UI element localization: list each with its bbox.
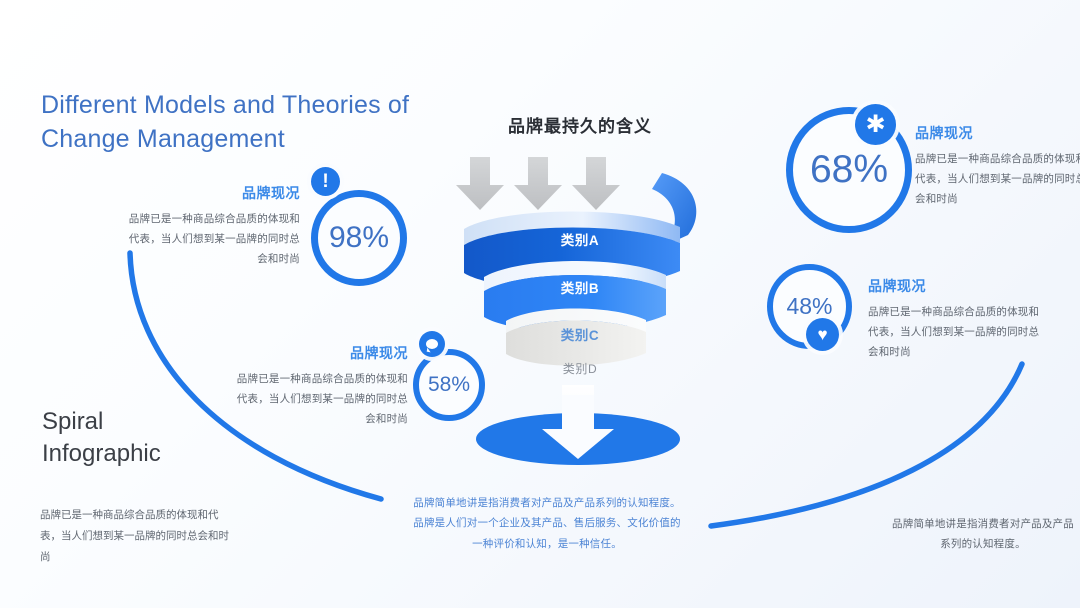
spiral-label-line2: Infographic — [42, 438, 282, 470]
callout-68-text: 品牌现况 品牌已是一种商品综合品质的体现和代表，当人们想到某一品牌的同时总会和时… — [915, 125, 1080, 210]
callout-68-heading: 品牌现况 — [915, 125, 1080, 143]
asterisk-icon: ✱ — [855, 104, 896, 145]
callout-58-body: 品牌已是一种商品综合品质的体现和代表，当人们想到某一品牌的同时总会和时尚 — [228, 369, 408, 430]
callout-48-body: 品牌已是一种商品综合品质的体现和代表，当人们想到某一品牌的同时总会和时尚 — [868, 302, 1048, 363]
callout-58-heading: 品牌现况 — [228, 345, 408, 363]
down-arrow-icon — [456, 157, 504, 210]
right-arc — [711, 364, 1022, 526]
speech-bubble-icon — [419, 331, 445, 357]
page-title: Different Models and Theories of Change … — [41, 88, 461, 156]
speech-bubble-glyph — [426, 339, 438, 349]
stat-circle-58[interactable]: 58% — [413, 349, 485, 421]
callout-58-text: 品牌现况 品牌已是一种商品综合品质的体现和代表，当人们想到某一品牌的同时总会和时… — [228, 345, 408, 430]
bottom-right-description: 品牌简单地讲是指消费者对产品及产品系列的认知程度。 — [890, 514, 1076, 555]
callout-98-body: 品牌已是一种商品综合品质的体现和代表，当人们想到某一品牌的同时总会和时尚 — [120, 209, 300, 270]
down-arrow-icons — [456, 157, 620, 210]
callout-98-text: 品牌现况 品牌已是一种商品综合品质的体现和代表，当人们想到某一品牌的同时总会和时… — [120, 185, 300, 270]
page-title-line1: Different Models and Theories of — [41, 88, 461, 122]
funnel-label-a: 类别A — [430, 229, 730, 249]
heart-icon: ♥ — [806, 318, 839, 351]
down-arrow-icon — [514, 157, 562, 210]
bottom-center-description: 品牌简单地讲是指消费者对产品及产品系列的认知程度。品牌是人们对一个企业及其产品、… — [411, 493, 683, 554]
page-title-line2: Change Management — [41, 122, 461, 156]
stat-circle-98[interactable]: 98% — [311, 190, 407, 286]
callout-48-text: 品牌现况 品牌已是一种商品综合品质的体现和代表，当人们想到某一品牌的同时总会和时… — [868, 278, 1048, 363]
down-arrow-icon — [572, 157, 620, 210]
callout-98-heading: 品牌现况 — [120, 185, 300, 203]
spiral-description: 品牌已是一种商品综合品质的体现和代表，当人们想到某一品牌的同时总会和时尚 — [40, 505, 236, 568]
funnel-label-b: 类别B — [430, 277, 730, 297]
callout-48-heading: 品牌现况 — [868, 278, 1048, 296]
callout-68-body: 品牌已是一种商品综合品质的体现和代表，当人们想到某一品牌的同时总会和时尚 — [915, 149, 1080, 210]
exclamation-icon: ! — [311, 167, 340, 196]
funnel-label-c: 类别C — [430, 324, 730, 344]
infographic-canvas: Different Models and Theories of Change … — [0, 0, 1080, 608]
